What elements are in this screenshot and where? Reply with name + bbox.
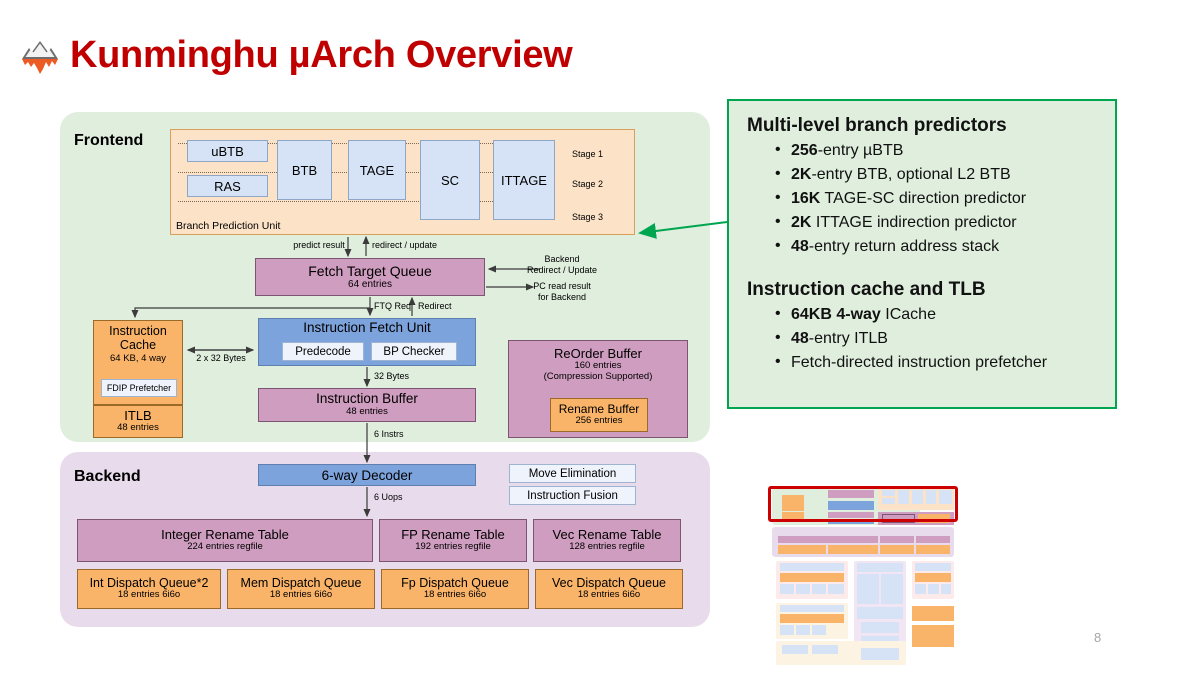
bpu-unit-label: Branch Prediction Unit bbox=[176, 220, 280, 232]
ftq-sub: 64 entries bbox=[348, 279, 392, 290]
label-6-uops: 6 Uops bbox=[374, 492, 422, 502]
stage-label-3: Stage 3 bbox=[572, 212, 603, 222]
label-backend-redirect: BackendRedirect / Update bbox=[524, 254, 600, 277]
page-title: Kunminghu µArch Overview bbox=[70, 34, 572, 77]
callout-section1-list: 256-entry µBTB 2K-entry BTB, optional L2… bbox=[757, 139, 1099, 259]
rename-buffer-sub: 256 entries bbox=[575, 416, 622, 427]
dq0-title: Int Dispatch Queue*2 bbox=[90, 577, 209, 591]
fdip-prefetcher[interactable]: FDIP Prefetcher bbox=[101, 379, 177, 397]
predictor-ras[interactable]: RAS bbox=[187, 175, 268, 197]
reorder-buffer[interactable]: ReOrder Buffer 160 entries (Compression … bbox=[508, 340, 688, 438]
callout-box: Multi-level branch predictors 256-entry … bbox=[727, 99, 1117, 409]
icache-title-2: Cache bbox=[120, 339, 156, 353]
dq2-sub: 18 entries 6i6o bbox=[424, 590, 486, 601]
integer-rename-table[interactable]: Integer Rename Table 224 entries regfile bbox=[77, 519, 373, 562]
vec-dispatch-queue[interactable]: Vec Dispatch Queue 18 entries 6i6o bbox=[535, 569, 683, 609]
frontend-highlight-box bbox=[768, 486, 958, 522]
dq3-title: Vec Dispatch Queue bbox=[552, 577, 666, 591]
callout-item: 2K ITTAGE indirection predictor bbox=[775, 211, 1099, 235]
mem-dispatch-queue[interactable]: Mem Dispatch Queue 18 entries 6i6o bbox=[227, 569, 375, 609]
itlb-title: ITLB bbox=[124, 409, 151, 423]
label-pc-read-result: PC read resultfor Backend bbox=[524, 281, 600, 304]
vec-rename-table[interactable]: Vec Rename Table 128 entries regfile bbox=[533, 519, 681, 562]
ifu-title: Instruction Fetch Unit bbox=[303, 321, 431, 336]
rt1-title: FP Rename Table bbox=[401, 528, 505, 542]
move-elimination[interactable]: Move Elimination bbox=[509, 464, 636, 483]
instruction-fusion[interactable]: Instruction Fusion bbox=[509, 486, 636, 505]
predictor-btb[interactable]: BTB bbox=[277, 140, 332, 200]
rt0-title: Integer Rename Table bbox=[161, 528, 289, 542]
label-6-instrs: 6 Instrs bbox=[374, 429, 422, 439]
dq0-sub: 18 entries 6i6o bbox=[118, 590, 180, 601]
dq1-title: Mem Dispatch Queue bbox=[241, 577, 362, 591]
instruction-fetch-unit[interactable]: Instruction Fetch Unit Predecode BP Chec… bbox=[258, 318, 476, 366]
predictor-ubtb[interactable]: uBTB bbox=[187, 140, 268, 162]
callout-item: 64KB 4-way ICache bbox=[775, 303, 1099, 327]
callout-item: 2K-entry BTB, optional L2 BTB bbox=[775, 163, 1099, 187]
frontend-label: Frontend bbox=[74, 132, 143, 150]
label-2x32-bytes: 2 x 32 Bytes bbox=[190, 353, 252, 363]
stage-label-2: Stage 2 bbox=[572, 179, 603, 189]
predictor-sc[interactable]: SC bbox=[420, 140, 480, 220]
dq2-title: Fp Dispatch Queue bbox=[401, 577, 509, 591]
slide-root: Kunminghu µArch Overview Frontend Stage … bbox=[0, 0, 1200, 675]
callout-item: Fetch-directed instruction prefetcher bbox=[775, 351, 1099, 375]
fp-dispatch-queue[interactable]: Fp Dispatch Queue 18 entries 6i6o bbox=[381, 569, 529, 609]
callout-section2-title: Instruction cache and TLB bbox=[747, 279, 1099, 301]
rob-title: ReOrder Buffer bbox=[554, 347, 642, 361]
callout-item: 16K TAGE-SC direction predictor bbox=[775, 187, 1099, 211]
dq3-sub: 18 entries 6i6o bbox=[578, 590, 640, 601]
label-redirect-update: redirect / update bbox=[372, 240, 452, 250]
fetch-target-queue[interactable]: Fetch Target Queue 64 entries bbox=[255, 258, 485, 296]
page-number: 8 bbox=[1094, 630, 1101, 645]
ibuf-title: Instruction Buffer bbox=[316, 392, 418, 407]
rt2-sub: 128 entries regfile bbox=[569, 542, 645, 553]
predictor-tage[interactable]: TAGE bbox=[348, 140, 406, 200]
slide-title-row: Kunminghu µArch Overview bbox=[20, 34, 572, 77]
rename-buffer[interactable]: Rename Buffer 256 entries bbox=[550, 398, 648, 432]
callout-section2-list: 64KB 4-way ICache 48-entry ITLB Fetch-di… bbox=[757, 303, 1099, 375]
instruction-cache[interactable]: Instruction Cache 64 KB, 4 way FDIP Pref… bbox=[93, 320, 183, 405]
callout-section1-title: Multi-level branch predictors bbox=[747, 115, 1099, 137]
mountain-logo-icon bbox=[20, 35, 60, 77]
stage-label-1: Stage 1 bbox=[572, 149, 603, 159]
backend-label: Backend bbox=[74, 468, 141, 486]
rt0-sub: 224 entries regfile bbox=[187, 542, 263, 553]
label-ftq-req: FTQ Req bbox=[374, 301, 424, 311]
rob-sub-2: (Compression Supported) bbox=[544, 372, 653, 383]
bp-checker-block[interactable]: BP Checker bbox=[371, 342, 457, 361]
callout-item: 48-entry ITLB bbox=[775, 327, 1099, 351]
fp-rename-table[interactable]: FP Rename Table 192 entries regfile bbox=[379, 519, 527, 562]
itlb-sub: 48 entries bbox=[117, 423, 159, 434]
six-way-decoder[interactable]: 6-way Decoder bbox=[258, 464, 476, 486]
callout-item: 256-entry µBTB bbox=[775, 139, 1099, 163]
instruction-buffer[interactable]: Instruction Buffer 48 entries bbox=[258, 388, 476, 422]
ibuf-sub: 48 entries bbox=[346, 407, 388, 418]
predecode-block[interactable]: Predecode bbox=[282, 342, 364, 361]
label-predict-result: predict result bbox=[289, 240, 349, 250]
label-32-bytes: 32 Bytes bbox=[374, 371, 424, 381]
ftq-title: Fetch Target Queue bbox=[308, 264, 431, 279]
predictor-ittage[interactable]: ITTAGE bbox=[493, 140, 555, 220]
callout-item: 48-entry return address stack bbox=[775, 235, 1099, 259]
rt2-title: Vec Rename Table bbox=[553, 528, 662, 542]
icache-title-1: Instruction bbox=[109, 325, 167, 339]
int-dispatch-queue[interactable]: Int Dispatch Queue*2 18 entries 6i6o bbox=[77, 569, 221, 609]
label-redirect: Redirect bbox=[418, 301, 466, 311]
itlb-block[interactable]: ITLB 48 entries bbox=[93, 405, 183, 438]
rt1-sub: 192 entries regfile bbox=[415, 542, 491, 553]
dq1-sub: 18 entries 6i6o bbox=[270, 590, 332, 601]
icache-sub: 64 KB, 4 way bbox=[110, 354, 166, 365]
